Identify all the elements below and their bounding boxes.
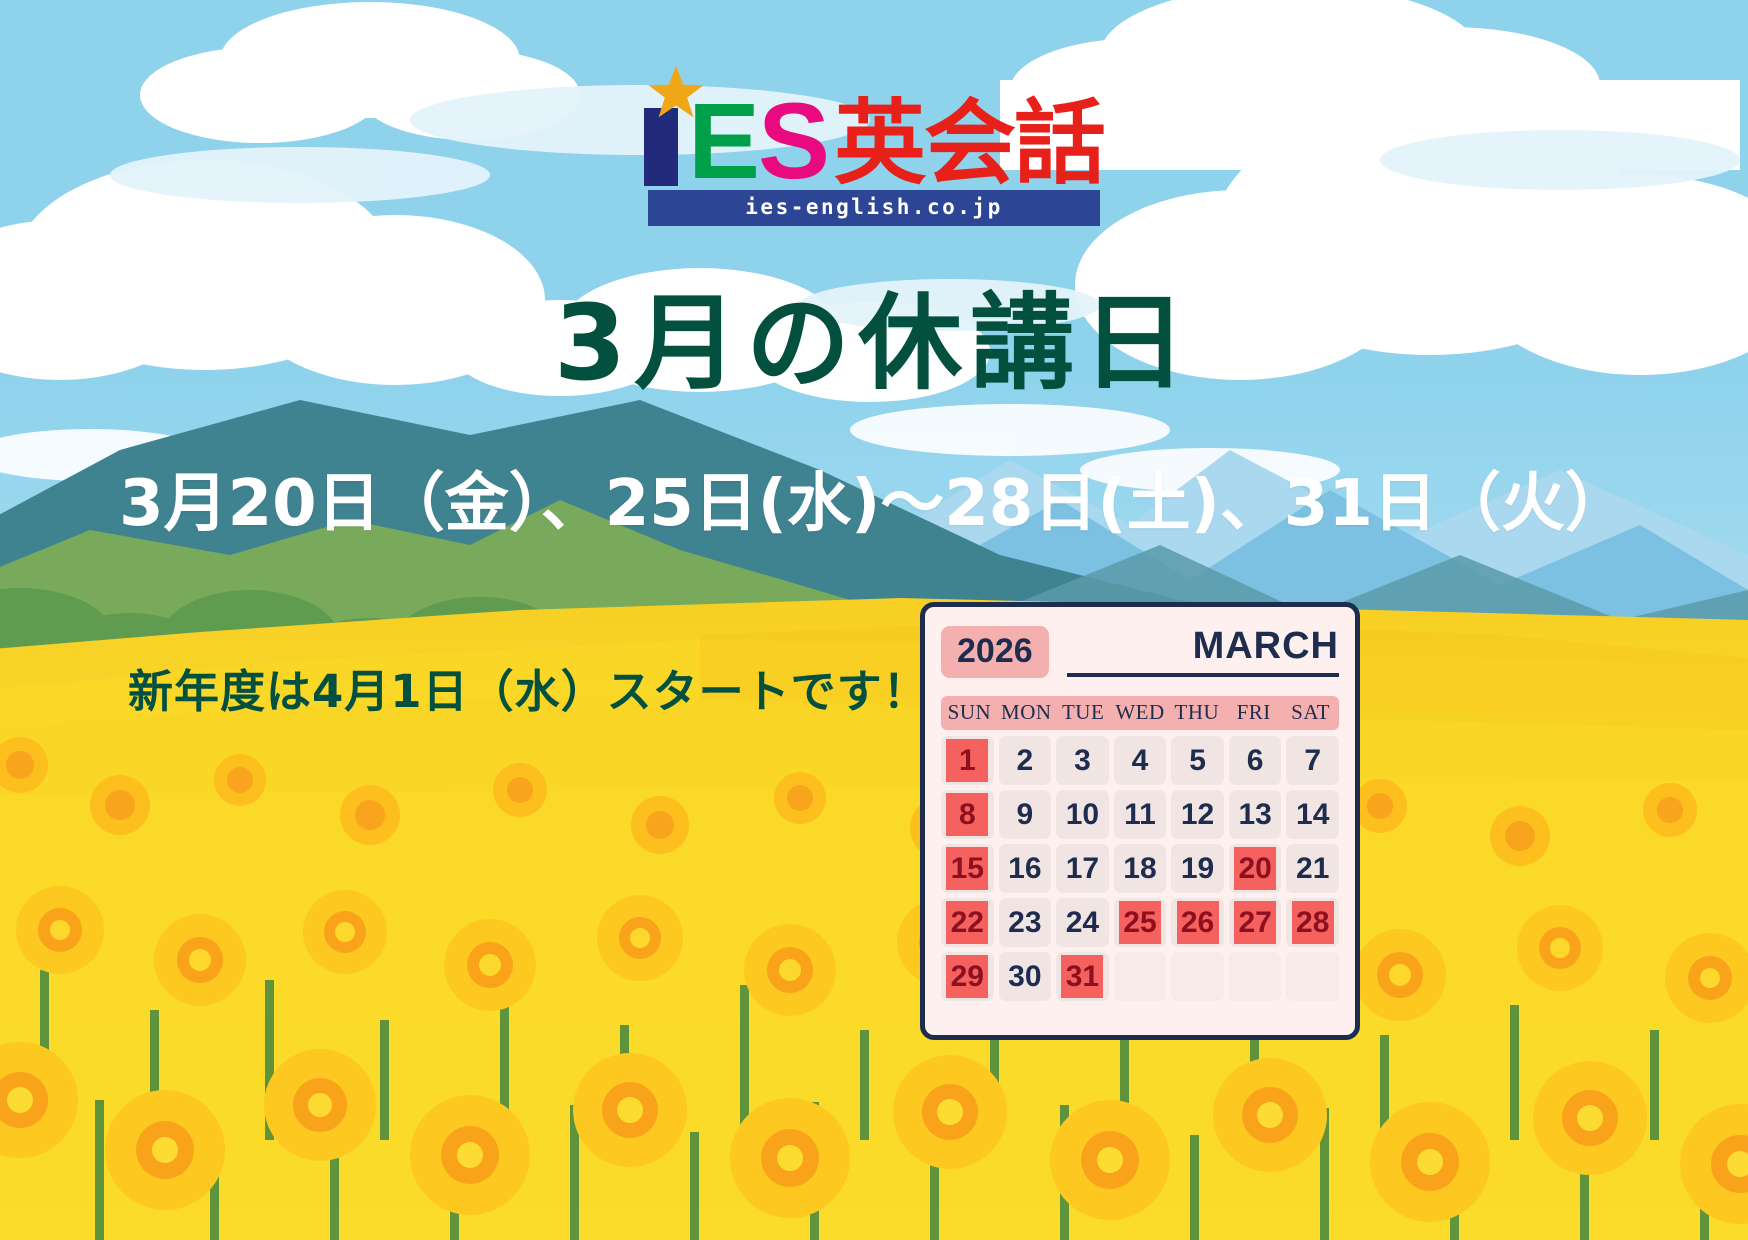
- calendar-day-3: 3: [1056, 736, 1109, 785]
- calendar-day-28-closed: 28: [1286, 898, 1339, 947]
- calendar-day-highlight: 1: [946, 739, 988, 782]
- calendar-cell-empty: [1286, 952, 1339, 1001]
- calendar-day-7: 7: [1286, 736, 1339, 785]
- logo-letter-S: S: [758, 97, 828, 186]
- calendar-day-24: 24: [1056, 898, 1109, 947]
- calendar-day-11: 11: [1114, 790, 1167, 839]
- calendar-card: 2026 MARCH SUNMONTUEWEDTHUFRISAT 1234567…: [920, 602, 1360, 1040]
- calendar-day-13: 13: [1229, 790, 1282, 839]
- calendar-day-19: 19: [1171, 844, 1224, 893]
- calendar-cell-empty: [1114, 952, 1167, 1001]
- calendar-day-20-closed: 20: [1229, 844, 1282, 893]
- calendar-header: 2026 MARCH: [941, 621, 1339, 683]
- calendar-day-highlight: 31: [1061, 955, 1103, 998]
- calendar-day-26-closed: 26: [1171, 898, 1224, 947]
- closed-dates-text: 3月20日（金）、25日(水)〜28日(土)、31日（火）: [0, 452, 1748, 544]
- logo-lettering: E S 英会話: [644, 78, 1104, 186]
- calendar-day-29-closed: 29: [941, 952, 994, 1001]
- calendar-dow-row: SUNMONTUEWEDTHUFRISAT: [941, 696, 1339, 730]
- calendar-day-18: 18: [1114, 844, 1167, 893]
- calendar-dow-tue: TUE: [1055, 700, 1112, 725]
- calendar-month-block: MARCH: [1067, 627, 1339, 677]
- star-icon: [648, 64, 704, 120]
- calendar-day-6: 6: [1229, 736, 1282, 785]
- new-year-notice: 新年度は4月1日（水）スタートです！: [128, 655, 929, 720]
- calendar-dow-mon: MON: [998, 700, 1055, 725]
- ies-logo: E S 英会話 ies-english.co.jp: [0, 78, 1748, 226]
- calendar-day-17: 17: [1056, 844, 1109, 893]
- calendar-day-31-closed: 31: [1056, 952, 1109, 1001]
- calendar-day-25-closed: 25: [1114, 898, 1167, 947]
- calendar-day-2: 2: [999, 736, 1052, 785]
- calendar-day-highlight: 8: [946, 793, 988, 836]
- calendar-day-10: 10: [1056, 790, 1109, 839]
- calendar-day-highlight: 26: [1177, 901, 1219, 944]
- page-title: 3月の休講日: [0, 258, 1748, 409]
- calendar-day-12: 12: [1171, 790, 1224, 839]
- calendar-day-grid: 1234567891011121314151617181920212223242…: [941, 736, 1339, 1001]
- calendar-year-badge: 2026: [941, 626, 1049, 678]
- calendar-day-4: 4: [1114, 736, 1167, 785]
- calendar-day-14: 14: [1286, 790, 1339, 839]
- calendar-day-highlight: 25: [1119, 901, 1161, 944]
- calendar-day-21: 21: [1286, 844, 1339, 893]
- calendar-day-highlight: 15: [946, 847, 988, 890]
- poster-canvas: E S 英会話 ies-english.co.jp 3月の休講日 3月20日（金…: [0, 0, 1748, 1240]
- calendar-day-1-closed: 1: [941, 736, 994, 785]
- calendar-cell-empty: [1229, 952, 1282, 1001]
- calendar-dow-wed: WED: [1112, 700, 1169, 725]
- calendar-dow-sat: SAT: [1282, 700, 1339, 725]
- calendar-month-rule: [1067, 673, 1339, 677]
- calendar-day-8-closed: 8: [941, 790, 994, 839]
- calendar-cell-empty: [1171, 952, 1224, 1001]
- calendar-day-27-closed: 27: [1229, 898, 1282, 947]
- calendar-month-label: MARCH: [1193, 627, 1339, 665]
- calendar-day-23: 23: [999, 898, 1052, 947]
- calendar-dow-sun: SUN: [941, 700, 998, 725]
- calendar-day-22-closed: 22: [941, 898, 994, 947]
- calendar-day-5: 5: [1171, 736, 1224, 785]
- calendar-day-9: 9: [999, 790, 1052, 839]
- calendar-dow-thu: THU: [1168, 700, 1225, 725]
- calendar-day-16: 16: [999, 844, 1052, 893]
- calendar-day-15-closed: 15: [941, 844, 994, 893]
- calendar-day-highlight: 29: [946, 955, 988, 998]
- flower-field-layer: [0, 540, 1748, 1240]
- calendar-day-30: 30: [999, 952, 1052, 1001]
- calendar-day-highlight: 27: [1234, 901, 1276, 944]
- calendar-day-highlight: 28: [1292, 901, 1334, 944]
- calendar-day-highlight: 22: [946, 901, 988, 944]
- calendar-dow-fri: FRI: [1225, 700, 1282, 725]
- calendar-day-highlight: 20: [1234, 847, 1276, 890]
- logo-kanji: 英会話: [834, 103, 1104, 186]
